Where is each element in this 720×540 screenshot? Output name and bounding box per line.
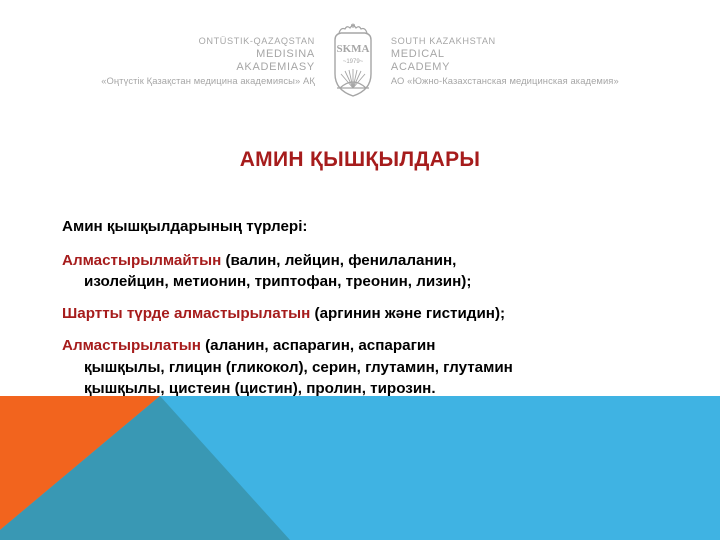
term-nonessential: Алмастырылатын <box>62 337 201 354</box>
crest-year: ~1979~ <box>343 59 364 65</box>
letterhead-left-text: ONTÜSTIK-QAZAQSTAN MEDISINA AKADEMIASY «… <box>101 35 326 88</box>
letterhead-left-line-2: MEDISINA <box>101 48 315 61</box>
letterhead-right-line-1: SOUTH KAZAKHSTAN <box>391 35 619 48</box>
letterhead-left-line-3: AKADEMIASY <box>101 61 315 74</box>
term-essential: Алмастырылмайтын <box>62 252 221 269</box>
body-item-conditional: Шартты түрде алмастырылатын (аргинин жән… <box>62 303 514 325</box>
letterhead-right-line-4: АО «Южно-Казахстанская медицинская акаде… <box>391 74 619 87</box>
letterhead-right-line-3: ACADEMY <box>391 61 619 74</box>
term-conditional: Шартты түрде алмастырылатын <box>62 305 310 322</box>
body-item-conditional-rest: (аргинин және гистидин); <box>310 305 505 322</box>
letterhead-left-line-4: «Оңтүстік Қазақстан медицина академиясы»… <box>101 74 315 87</box>
slide-body: Амин қышқылдарының түрлері: Алмастырылма… <box>62 216 514 408</box>
slide: ONTÜSTIK-QAZAQSTAN MEDISINA AKADEMIASY «… <box>0 0 720 540</box>
crest-monogram: SKMA <box>336 43 369 55</box>
slide-title: АМИН ҚЫШҚЫЛДАРЫ <box>0 148 720 172</box>
academy-crest-icon: SKMA ~1979~ <box>326 22 380 100</box>
body-intro-line: Амин қышқылдарының түрлері: <box>62 216 514 238</box>
body-item-essential: Алмастырылмайтын (валин, лейцин, фенилал… <box>62 250 514 293</box>
letterhead-right-text: SOUTH KAZAKHSTAN MEDICAL ACADEMY АО «Южн… <box>380 35 619 88</box>
decorative-banner <box>0 396 720 540</box>
letterhead-left-line-1: ONTÜSTIK-QAZAQSTAN <box>101 35 315 48</box>
letterhead: ONTÜSTIK-QAZAQSTAN MEDISINA AKADEMIASY «… <box>0 22 720 100</box>
body-item-nonessential: Алмастырылатын (аланин, аспарагин, аспар… <box>62 335 514 400</box>
letterhead-right-line-2: MEDICAL <box>391 48 619 61</box>
